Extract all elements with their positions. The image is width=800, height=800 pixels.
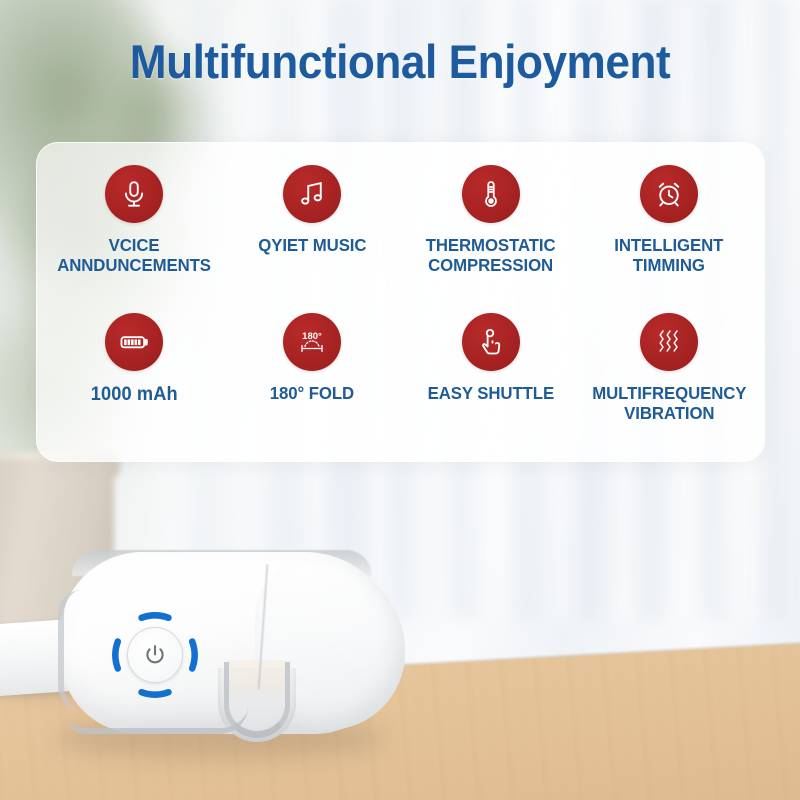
feature-label: INTELLIGENT TIMMING (614, 236, 723, 275)
eye-massager-product (0, 520, 480, 800)
feature-item-multifrequency-vibration: MULTIFREQUENCY VIBRATION (580, 305, 758, 453)
feature-label: QYIET MUSIC (258, 236, 366, 256)
feature-label: THERMOSTATIC COMPRESSION (426, 236, 556, 275)
feature-label: VCICE ANNDUNCEMENTS (57, 236, 211, 275)
feature-item-easy-shuttle: EASY SHUTTLE (402, 305, 580, 453)
feature-item-180-fold: 180° 180° FOLD (223, 305, 401, 453)
battery-icon (105, 313, 163, 371)
feature-grid: VCICE ANNDUNCEMENTS QYIET MUSIC (37, 143, 766, 463)
product-marketing-image: Multifunctional Enjoyment VCICE ANNDUNCE… (0, 0, 800, 800)
fold-180-icon: 180° (283, 313, 341, 371)
mask-bottom-liner (68, 706, 248, 734)
feature-item-intelligent-timing: INTELLIGENT TIMMING (580, 157, 758, 305)
feature-label: EASY SHUTTLE (427, 384, 553, 404)
feature-label: 1000 mAh (91, 384, 178, 405)
page-title: Multifunctional Enjoyment (24, 34, 776, 89)
feature-item-quiet-music: QYIET MUSIC (223, 157, 401, 305)
feature-item-voice-announcements: VCICE ANNDUNCEMENTS (45, 157, 223, 305)
feature-label: 180° FOLD (270, 384, 354, 404)
fold-degree-text: 180° (303, 331, 323, 342)
touch-hand-icon (462, 313, 520, 371)
thermometer-icon (462, 165, 520, 223)
alarm-clock-icon (640, 165, 698, 223)
mask-left-liner (58, 590, 82, 710)
feature-label: MULTIFREQUENCY VIBRATION (592, 384, 746, 423)
feature-card: VCICE ANNDUNCEMENTS QYIET MUSIC (36, 142, 765, 462)
vibration-icon (640, 313, 698, 371)
feature-item-battery-capacity: 1000 mAh (45, 305, 223, 453)
power-icon (143, 642, 167, 668)
power-button[interactable] (108, 608, 202, 702)
music-note-icon (283, 165, 341, 223)
feature-item-thermostatic-compression: THERMOSTATIC COMPRESSION (402, 157, 580, 305)
microphone-icon (105, 165, 163, 223)
